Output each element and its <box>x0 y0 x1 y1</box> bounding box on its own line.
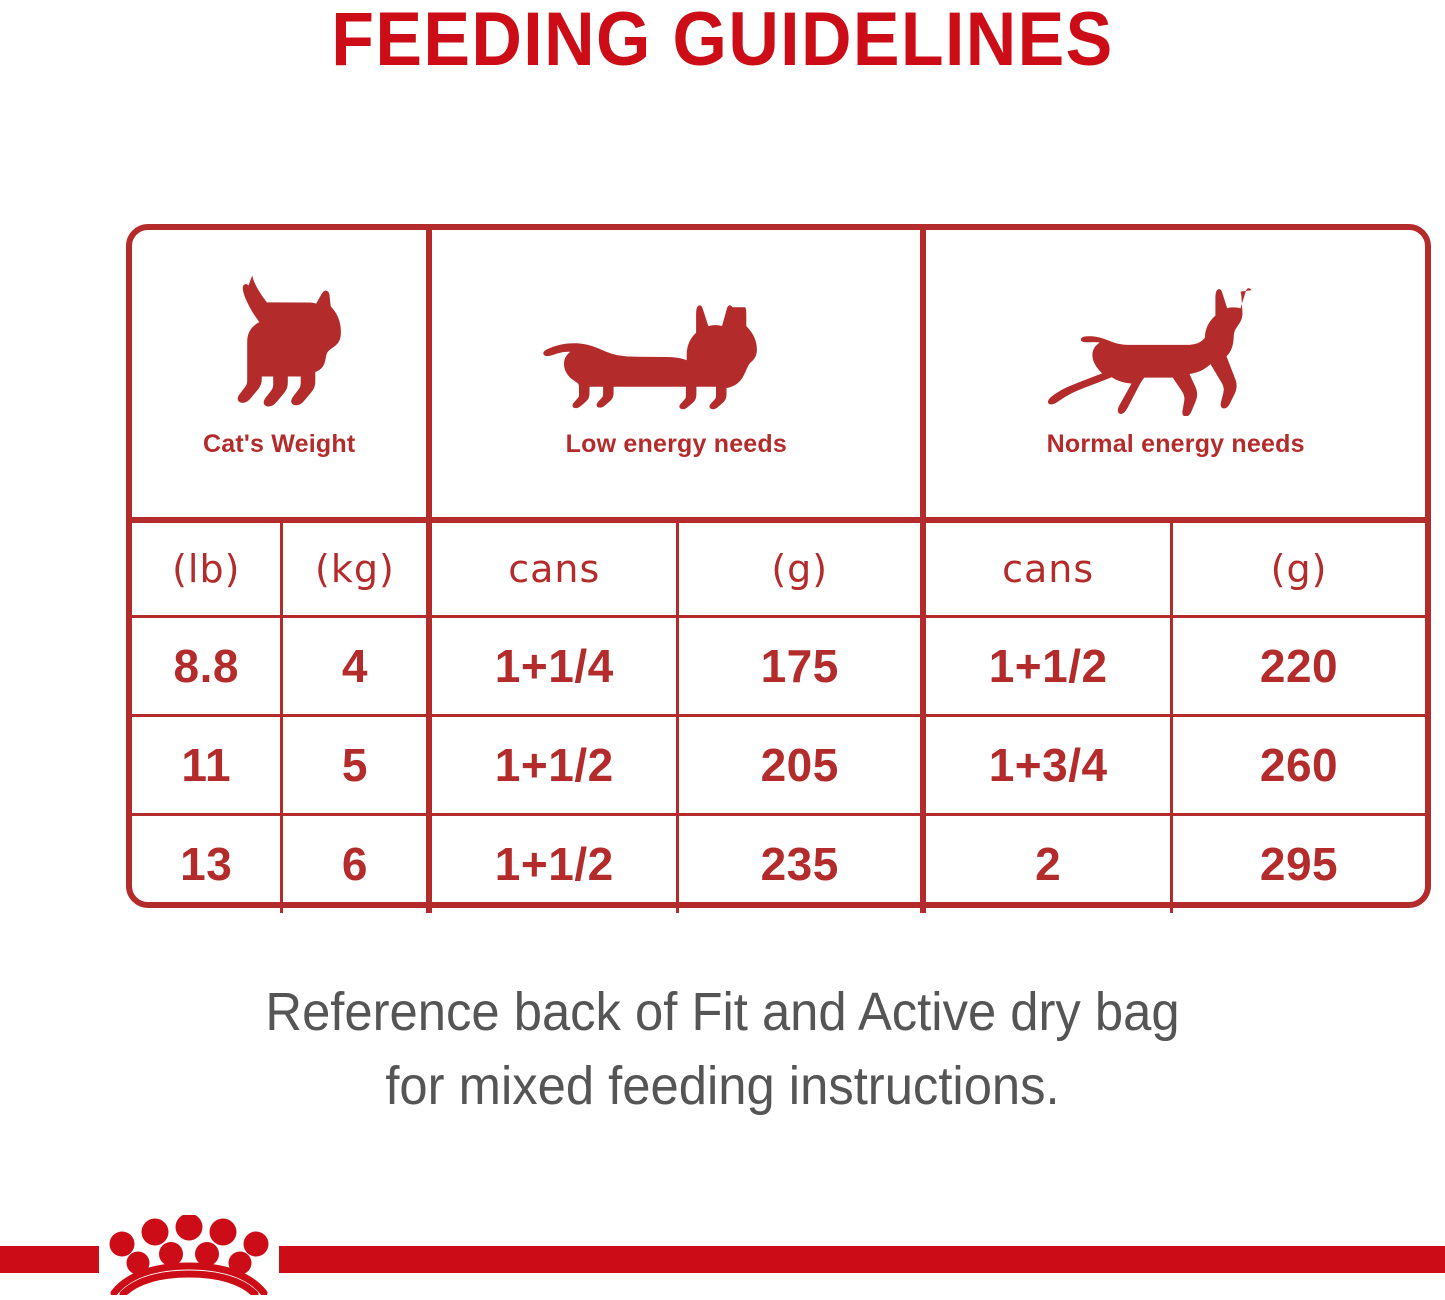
unit-cell-normal-grams: (g) <box>1172 520 1425 616</box>
cell-low-grams: 235 <box>678 814 924 913</box>
cell-low-cans: 1+1/2 <box>429 814 677 913</box>
header-label-normal-energy: Normal energy needs <box>1047 430 1305 459</box>
brand-footer-bar <box>0 1246 1445 1273</box>
header-label-low-energy: Low energy needs <box>566 430 787 459</box>
lying-cat-icon <box>531 301 821 416</box>
cell-low-grams: 175 <box>678 616 924 715</box>
cell-low-grams: 205 <box>678 715 924 814</box>
unit-cell-normal-cans: cans <box>923 520 1171 616</box>
cell-normal-cans: 2 <box>923 814 1171 913</box>
cell-weight-lb: 13 <box>132 814 282 913</box>
cell-normal-cans: 1+1/2 <box>923 616 1171 715</box>
cell-weight-kg: 5 <box>282 715 429 814</box>
header-label-cats-weight: Cat's Weight <box>203 430 355 459</box>
cell-low-cans: 1+1/2 <box>429 715 677 814</box>
unit-cell-low-grams: (g) <box>678 520 924 616</box>
unit-cell-lb: (lb) <box>132 520 282 616</box>
walking-cat-icon <box>1036 286 1316 416</box>
unit-cell-low-cans: cans <box>429 520 677 616</box>
cell-low-cans: 1+1/4 <box>429 616 677 715</box>
mixed-feeding-note: Reference back of Fit and Active dry bag… <box>43 975 1401 1123</box>
header-cell-cats-weight: Cat's Weight <box>132 230 429 520</box>
cell-weight-lb: 8.8 <box>132 616 282 715</box>
cell-weight-kg: 6 <box>282 814 429 913</box>
cell-weight-kg: 4 <box>282 616 429 715</box>
note-line-2: for mixed feeding instructions. <box>43 1049 1401 1123</box>
cell-weight-lb: 11 <box>132 715 282 814</box>
cell-normal-grams: 260 <box>1172 715 1425 814</box>
feeding-guidelines-table: Cat's Weight Low energy needs <box>126 224 1431 908</box>
cell-normal-cans: 1+3/4 <box>923 715 1171 814</box>
unit-cell-kg: (kg) <box>282 520 429 616</box>
brand-bar-right <box>279 1246 1445 1273</box>
brand-bar-left <box>0 1246 99 1273</box>
table-row: 13 6 1+1/2 235 2 295 <box>132 814 1425 913</box>
header-cell-low-energy: Low energy needs <box>429 230 923 520</box>
royal-canin-crown-logo <box>99 1215 279 1295</box>
table-row: 11 5 1+1/2 205 1+3/4 260 <box>132 715 1425 814</box>
standing-cat-icon <box>204 276 354 416</box>
table-units-row: (lb) (kg) cans (g) cans (g) <box>132 520 1425 616</box>
cell-normal-grams: 220 <box>1172 616 1425 715</box>
page-title: FEEDING GUIDELINES <box>58 2 1387 78</box>
cell-normal-grams: 295 <box>1172 814 1425 913</box>
header-cell-normal-energy: Normal energy needs <box>923 230 1425 520</box>
table-row: 8.8 4 1+1/4 175 1+1/2 220 <box>132 616 1425 715</box>
note-line-1: Reference back of Fit and Active dry bag <box>43 975 1401 1049</box>
table-header-row: Cat's Weight Low energy needs <box>132 230 1425 520</box>
